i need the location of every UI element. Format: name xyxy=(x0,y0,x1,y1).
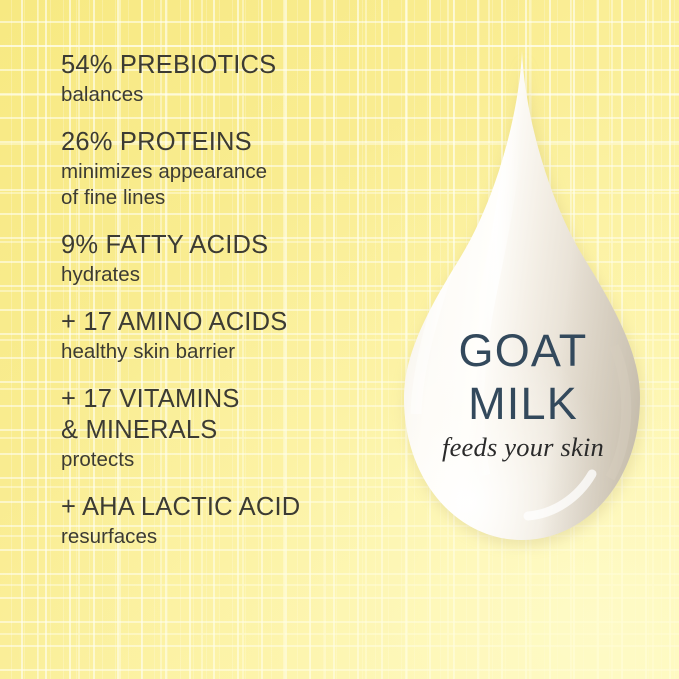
droplet-tagline: feeds your skin xyxy=(378,432,668,463)
milk-droplet-graphic: GOAT MILK feeds your skin xyxy=(378,46,668,554)
droplet-title-line1: GOAT xyxy=(378,328,668,373)
ingredient-benefit: healthy skin barrier xyxy=(61,339,381,365)
ingredient-headline: 9% FATTY ACIDS xyxy=(61,230,381,261)
droplet-title-line2: MILK xyxy=(378,381,668,426)
ingredient-headline: + 17 AMINO ACIDS xyxy=(61,307,381,338)
ingredient-headline: + 17 VITAMINS & MINERALS xyxy=(61,384,381,446)
ingredient-benefit: hydrates xyxy=(61,262,381,288)
ingredient-item-prebiotics: 54% PREBIOTICS balances xyxy=(61,50,381,108)
droplet-text-block: GOAT MILK feeds your skin xyxy=(378,46,668,554)
ingredient-headline: 26% PROTEINS xyxy=(61,127,381,158)
ingredient-headline: 54% PREBIOTICS xyxy=(61,50,381,81)
ingredient-headline: + AHA LACTIC ACID xyxy=(61,492,381,523)
promo-graphic: 54% PREBIOTICS balances 26% PROTEINS min… xyxy=(0,0,679,679)
ingredient-item-fatty-acids: 9% FATTY ACIDS hydrates xyxy=(61,230,381,288)
ingredient-benefit: resurfaces xyxy=(61,524,381,550)
ingredient-item-amino-acids: + 17 AMINO ACIDS healthy skin barrier xyxy=(61,307,381,365)
ingredient-item-aha-lactic-acid: + AHA LACTIC ACID resurfaces xyxy=(61,492,381,550)
ingredient-benefit: balances xyxy=(61,82,381,108)
ingredient-benefit: minimizes appearance of fine lines xyxy=(61,159,381,211)
ingredient-benefit: protects xyxy=(61,447,381,473)
ingredient-item-proteins: 26% PROTEINS minimizes appearance of fin… xyxy=(61,127,381,211)
ingredient-item-vitamins-minerals: + 17 VITAMINS & MINERALS protects xyxy=(61,384,381,473)
ingredient-list: 54% PREBIOTICS balances 26% PROTEINS min… xyxy=(61,50,381,550)
